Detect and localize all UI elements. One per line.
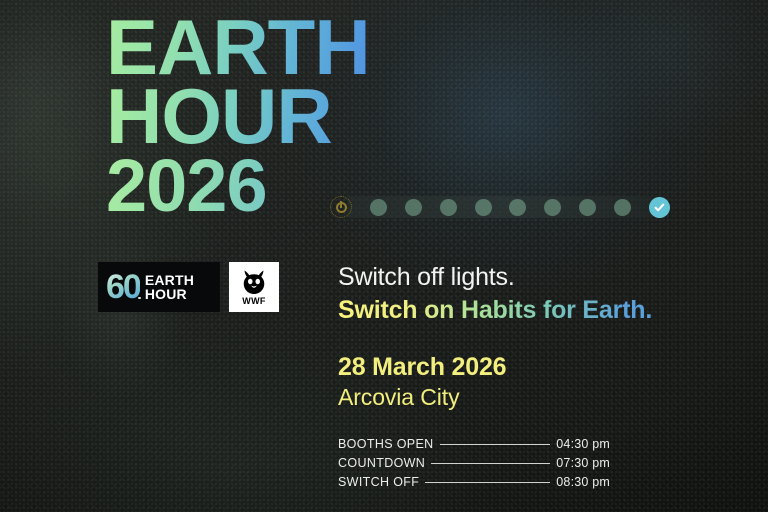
schedule-row: BOOTHS OPEN 04:30 pm: [338, 434, 610, 453]
progress-dot: [544, 199, 561, 216]
progress-cells: [330, 193, 670, 221]
wwf-logo: WWF: [229, 262, 279, 312]
schedule-label: BOOTHS OPEN: [338, 437, 434, 451]
check-circle-icon: [649, 197, 670, 218]
logo-strip: 60 EARTH HOUR WWF: [98, 262, 279, 312]
progress-dot: [370, 199, 387, 216]
tagline-block: Switch off lights. Switch on Habits for …: [338, 262, 652, 325]
power-icon: [330, 196, 352, 218]
schedule-label: SWITCH OFF: [338, 475, 419, 489]
headline-line-1: EARTH: [106, 14, 370, 81]
power-icon-glyph: [336, 202, 347, 213]
progress-dot: [509, 199, 526, 216]
tagline-line-2: Switch on Habits for Earth.: [338, 295, 652, 326]
schedule-leader-rule: [440, 444, 551, 445]
earth-hour-60: 60: [106, 270, 140, 304]
wwf-wordmark: WWF: [242, 297, 265, 306]
progress-dot: [475, 199, 492, 216]
schedule-row: SWITCH OFF 08:30 pm: [338, 472, 610, 491]
event-details: 28 March 2026 Arcovia City: [338, 352, 506, 412]
event-venue: Arcovia City: [338, 383, 506, 412]
schedule-time: 08:30 pm: [556, 475, 610, 489]
panda-icon: [239, 269, 269, 296]
schedule-time: 04:30 pm: [556, 437, 610, 451]
earth-hour-logo: 60 EARTH HOUR: [98, 262, 220, 312]
progress-dot: [614, 199, 631, 216]
schedule-leader-rule: [431, 463, 550, 464]
earth-hour-word-bottom: HOUR: [145, 286, 187, 302]
progress-indicator: [330, 193, 670, 221]
schedule-label: COUNTDOWN: [338, 456, 425, 470]
progress-dot: [405, 199, 422, 216]
event-date: 28 March 2026: [338, 352, 506, 382]
poster-headline: EARTH HOUR 2026: [106, 14, 370, 218]
progress-dot: [440, 199, 457, 216]
progress-dot: [579, 199, 596, 216]
headline-line-2: HOUR: [106, 83, 370, 150]
schedule-leader-rule: [425, 482, 550, 483]
schedule-time: 07:30 pm: [556, 456, 610, 470]
schedule-row: COUNTDOWN 07:30 pm: [338, 453, 610, 472]
tagline-line-1: Switch off lights.: [338, 262, 652, 293]
earth-hour-wordmark: EARTH HOUR: [145, 273, 194, 302]
event-schedule: BOOTHS OPEN 04:30 pm COUNTDOWN 07:30 pm …: [338, 434, 610, 491]
earth-hour-poster: EARTH HOUR 2026: [0, 0, 768, 512]
